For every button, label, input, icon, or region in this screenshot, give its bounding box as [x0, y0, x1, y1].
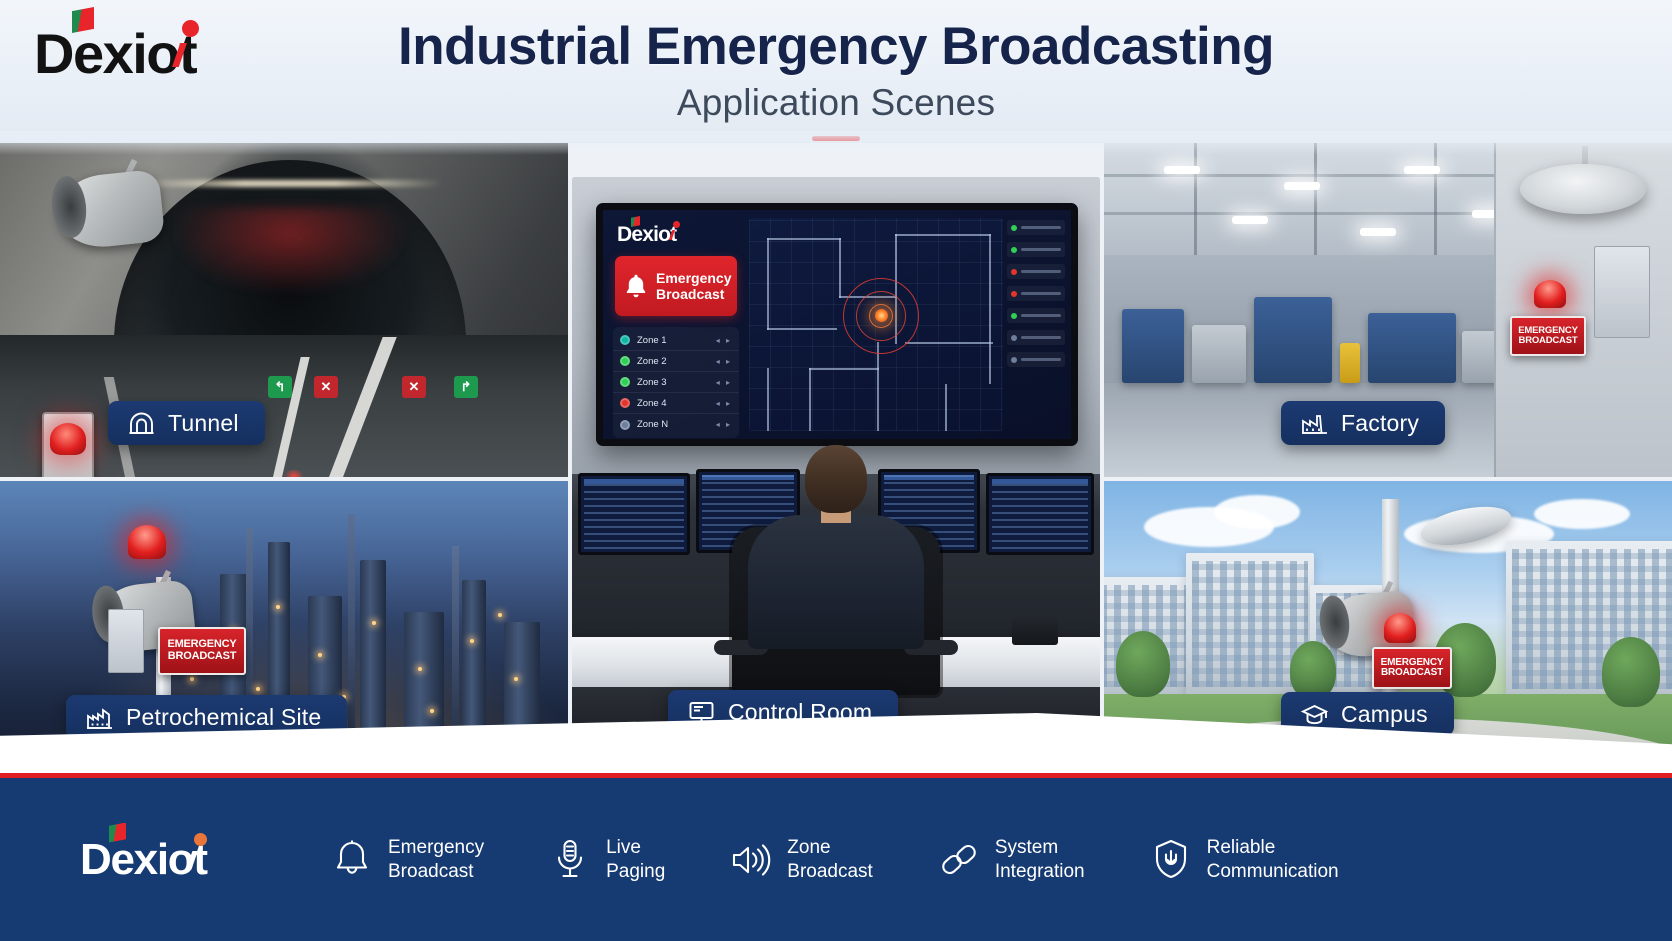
scene-label-tunnel[interactable]: Tunnel — [108, 401, 265, 445]
zone-status-dot — [620, 335, 630, 345]
tree — [1602, 637, 1660, 707]
operator-head — [805, 445, 867, 513]
feature-label: Zone Broadcast — [787, 836, 873, 882]
zone-row[interactable]: Zone 2 ◂ ▸ — [613, 351, 739, 372]
tunnel-red-glow — [170, 207, 409, 295]
status-row — [1007, 264, 1065, 279]
scene-label-text: Tunnel — [168, 410, 239, 437]
horn-speaker — [48, 162, 168, 254]
feature-reliable-communication[interactable]: Reliable Communication — [1151, 836, 1339, 882]
ceiling-light — [1232, 216, 1268, 224]
zone-meta: ◂ ▸ — [716, 399, 732, 408]
machine — [1122, 309, 1184, 383]
feature-emergency-broadcast[interactable]: Emergency Broadcast — [332, 836, 484, 882]
footer-feature-list: Emergency Broadcast Live Paging — [332, 836, 1339, 882]
zone-label: Zone 4 — [637, 398, 716, 409]
lane-sign: ↱ — [454, 376, 478, 398]
chain-link-icon — [939, 838, 979, 882]
speaker-waves-icon — [731, 838, 771, 882]
feature-label: Emergency Broadcast — [388, 836, 484, 882]
ceiling-light — [1284, 182, 1320, 190]
ceiling-light — [1360, 228, 1396, 236]
factory-icon — [1301, 410, 1328, 437]
emergency-broadcast-sign: EMERGENCY BROADCAST — [1372, 647, 1452, 689]
status-row — [1007, 242, 1065, 257]
zone-label: Zone 3 — [637, 377, 716, 388]
control-panel-box — [1594, 246, 1650, 338]
alarm-beacon-light — [1384, 613, 1416, 643]
tree — [1116, 631, 1170, 697]
ceiling-light — [1404, 166, 1440, 174]
road-marking — [273, 357, 310, 477]
title-accent-rule — [812, 136, 860, 141]
zone-row[interactable]: Zone 4 ◂ ▸ — [613, 393, 739, 414]
alarm-beacon-light — [50, 423, 86, 455]
road-marking — [329, 337, 397, 477]
desk-monitor[interactable] — [986, 473, 1094, 555]
brand-dot-icon — [182, 20, 199, 37]
alert-location-ping — [843, 278, 919, 354]
scene-label-text: Campus — [1341, 701, 1428, 728]
operator-body — [748, 515, 924, 649]
title-block: Industrial Emergency Broadcasting Applic… — [0, 18, 1672, 141]
scene-control-room[interactable]: Dexiot Emergency — [572, 177, 1100, 771]
poster-root: ↰ ✕ ✕ ↱ — [0, 0, 1672, 941]
emergency-broadcast-sign: EMERGENCY BROADCAST — [158, 627, 246, 675]
zone-meta: ◂ ▸ — [716, 336, 732, 345]
microphone-icon — [550, 838, 590, 882]
machine — [1254, 297, 1332, 383]
eb-button-line-1: Emergency — [656, 270, 731, 286]
feature-label: Live Paging — [606, 836, 665, 882]
header-brand-logo[interactable]: Dexiot — [34, 26, 196, 82]
status-row — [1007, 308, 1065, 323]
tunnel-icon — [128, 410, 155, 437]
feature-label: System Integration — [995, 836, 1085, 882]
scene-label-text: Factory — [1341, 410, 1419, 437]
facility-floorplan-map[interactable] — [749, 218, 1003, 431]
brand-flag-icon — [631, 216, 640, 227]
feature-live-paging[interactable]: Live Paging — [550, 836, 665, 882]
status-row — [1007, 220, 1065, 235]
ceiling-speaker — [1520, 164, 1646, 214]
tunnel-light-strip — [136, 180, 443, 187]
header-brand-text: Dexiot — [34, 22, 196, 85]
zone-row[interactable]: Zone 1 ◂ ▸ — [613, 330, 739, 351]
scene-tunnel[interactable]: ↰ ✕ ✕ ↱ — [0, 140, 568, 477]
scene-label-factory[interactable]: Factory — [1281, 401, 1445, 445]
ceiling-light — [1164, 166, 1200, 174]
lane-sign: ↰ — [268, 376, 292, 398]
brand-flag-icon — [109, 823, 126, 843]
lane-sign: ✕ — [402, 376, 426, 398]
zone-status-dot — [620, 377, 630, 387]
zone-status-dot — [620, 398, 630, 408]
zone-label: Zone N — [637, 419, 716, 430]
footer-brand-logo[interactable]: Dexiot — [80, 838, 280, 882]
refinery-icon — [86, 704, 113, 731]
emergency-broadcast-button[interactable]: Emergency Broadcast — [615, 256, 737, 316]
machine — [1192, 325, 1246, 383]
control-panel-box — [108, 609, 144, 673]
alarm-beacon-light — [1534, 280, 1566, 308]
sign-line-2: BROADCAST — [168, 651, 236, 663]
vehicle-taillights — [283, 470, 305, 477]
status-row — [1007, 286, 1065, 301]
scene-label-text: Petrochemical Site — [126, 704, 321, 731]
shield-check-icon — [1151, 838, 1191, 882]
dashboard-brand-text: Dexiot — [617, 223, 676, 246]
dashboard-brand: Dexiot — [617, 222, 739, 246]
status-row — [1007, 330, 1065, 345]
feature-zone-broadcast[interactable]: Zone Broadcast — [731, 836, 873, 882]
zone-label: Zone 1 — [637, 335, 716, 346]
sign-line-2: BROADCAST — [1381, 668, 1443, 679]
machine — [1368, 313, 1456, 383]
zone-meta: ◂ ▸ — [716, 378, 732, 387]
dashboard-status-rail — [1007, 220, 1065, 431]
zone-meta: ◂ ▸ — [716, 420, 732, 429]
brand-dot-icon — [673, 221, 680, 228]
footer-brand-text: Dexiot — [80, 835, 207, 884]
page-footer: Dexiot Emergency Broadcast — [0, 773, 1672, 941]
zone-status-dot — [620, 356, 630, 366]
zone-row[interactable]: Zone N ◂ ▸ — [613, 414, 739, 435]
feature-label: Reliable Communication — [1207, 836, 1339, 882]
bell-icon — [624, 273, 648, 299]
page-title: Industrial Emergency Broadcasting — [0, 18, 1672, 75]
emergency-broadcast-sign: EMERGENCY BROADCAST — [1510, 316, 1586, 356]
graduation-cap-icon — [1301, 701, 1328, 728]
bell-icon — [332, 838, 372, 882]
brand-dot-icon — [194, 833, 207, 846]
desk-monitor[interactable] — [578, 473, 690, 555]
sign-line-2: BROADCAST — [1519, 336, 1578, 346]
alarm-beacon-light — [128, 525, 166, 559]
dashboard-sidebar: Dexiot Emergency — [613, 220, 739, 431]
zone-meta: ◂ ▸ — [716, 357, 732, 366]
status-row — [1007, 352, 1065, 367]
lane-sign: ✕ — [314, 376, 338, 398]
feature-system-integration[interactable]: System Integration — [939, 836, 1085, 882]
operator — [748, 445, 924, 695]
desk-telephone[interactable] — [1012, 617, 1058, 645]
zone-row[interactable]: Zone 3 ◂ ▸ — [613, 372, 739, 393]
page-header: Dexiot Industrial Emergency Broadcasting… — [0, 0, 1672, 143]
wall-display[interactable]: Dexiot Emergency — [596, 203, 1078, 446]
brand-flag-icon — [72, 7, 94, 33]
zone-list: Zone 1 ◂ ▸ Zone 2 ◂ ▸ Zone 3 — [613, 327, 739, 438]
page-subtitle: Application Scenes — [0, 82, 1672, 124]
tunnel-lane-signs: ↰ ✕ ✕ ↱ — [268, 376, 498, 402]
zone-label: Zone 2 — [637, 356, 716, 367]
zone-status-dot — [620, 420, 630, 430]
safety-bollard — [1340, 343, 1360, 383]
eb-button-line-2: Broadcast — [656, 286, 731, 302]
